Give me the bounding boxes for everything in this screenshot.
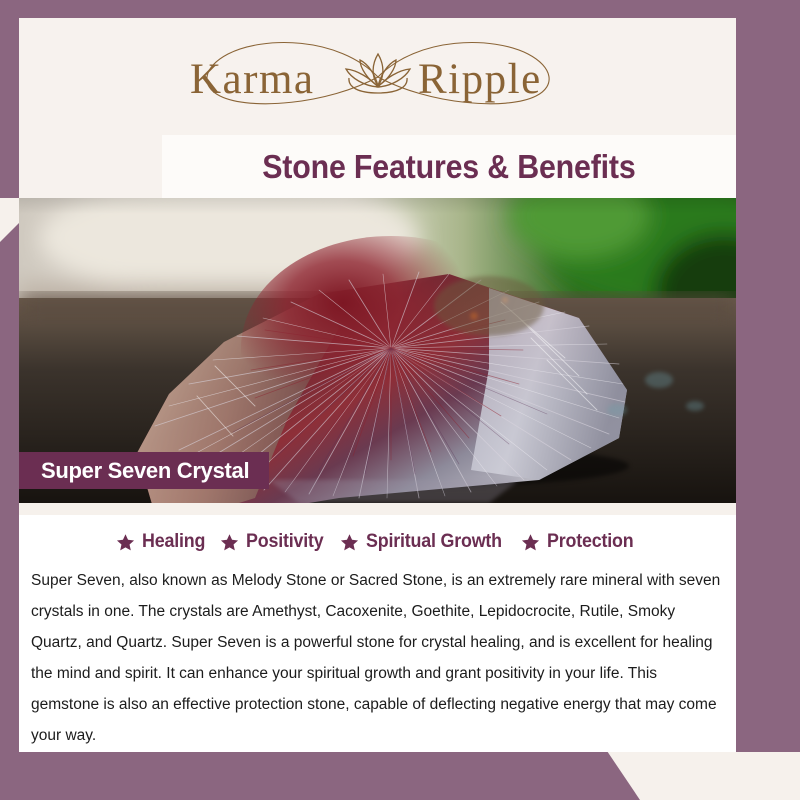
brand-word-left: Karma bbox=[190, 56, 315, 103]
stone-description: Super Seven, also known as Melody Stone … bbox=[31, 565, 724, 751]
stone-name-label: Super Seven Crystal bbox=[41, 458, 249, 484]
stone-name-badge: Super Seven Crystal bbox=[19, 452, 269, 489]
benefits-content: Healing Positivity bbox=[19, 515, 736, 752]
benefit-label: Spiritual Growth bbox=[366, 531, 511, 553]
star-icon bbox=[220, 533, 239, 552]
star-icon bbox=[116, 533, 135, 552]
benefit-label: Healing bbox=[142, 531, 209, 553]
star-icon bbox=[340, 533, 359, 552]
benefit-item-protection: Protection bbox=[521, 531, 639, 553]
benefit-item-spiritual-growth: Spiritual Growth bbox=[340, 531, 511, 553]
frame-right-border bbox=[736, 0, 800, 752]
infographic-page: Karma Ripple Stone Features & Benefits bbox=[0, 0, 800, 800]
stone-photo: Super Seven Crystal bbox=[19, 198, 736, 503]
benefit-item-positivity: Positivity bbox=[220, 531, 328, 553]
frame-bottom-border bbox=[0, 748, 640, 800]
benefits-row: Healing Positivity bbox=[19, 515, 736, 565]
brand-header: Karma Ripple bbox=[19, 18, 736, 135]
benefit-label: Positivity bbox=[246, 531, 328, 553]
cream-divider bbox=[19, 503, 736, 515]
title-band-inner: Stone Features & Benefits bbox=[162, 135, 736, 198]
star-icon bbox=[521, 533, 540, 552]
title-band: Stone Features & Benefits bbox=[19, 135, 736, 198]
frame-left-border bbox=[0, 198, 19, 800]
frame-top-band bbox=[0, 0, 736, 18]
brand-logo[interactable]: Karma Ripple bbox=[168, 38, 588, 116]
benefit-label: Protection bbox=[547, 531, 639, 553]
benefit-item-healing: Healing bbox=[116, 531, 209, 553]
brand-word-right: Ripple bbox=[418, 56, 542, 103]
content-card: Karma Ripple Stone Features & Benefits bbox=[19, 18, 736, 752]
page-title: Stone Features & Benefits bbox=[162, 148, 736, 186]
